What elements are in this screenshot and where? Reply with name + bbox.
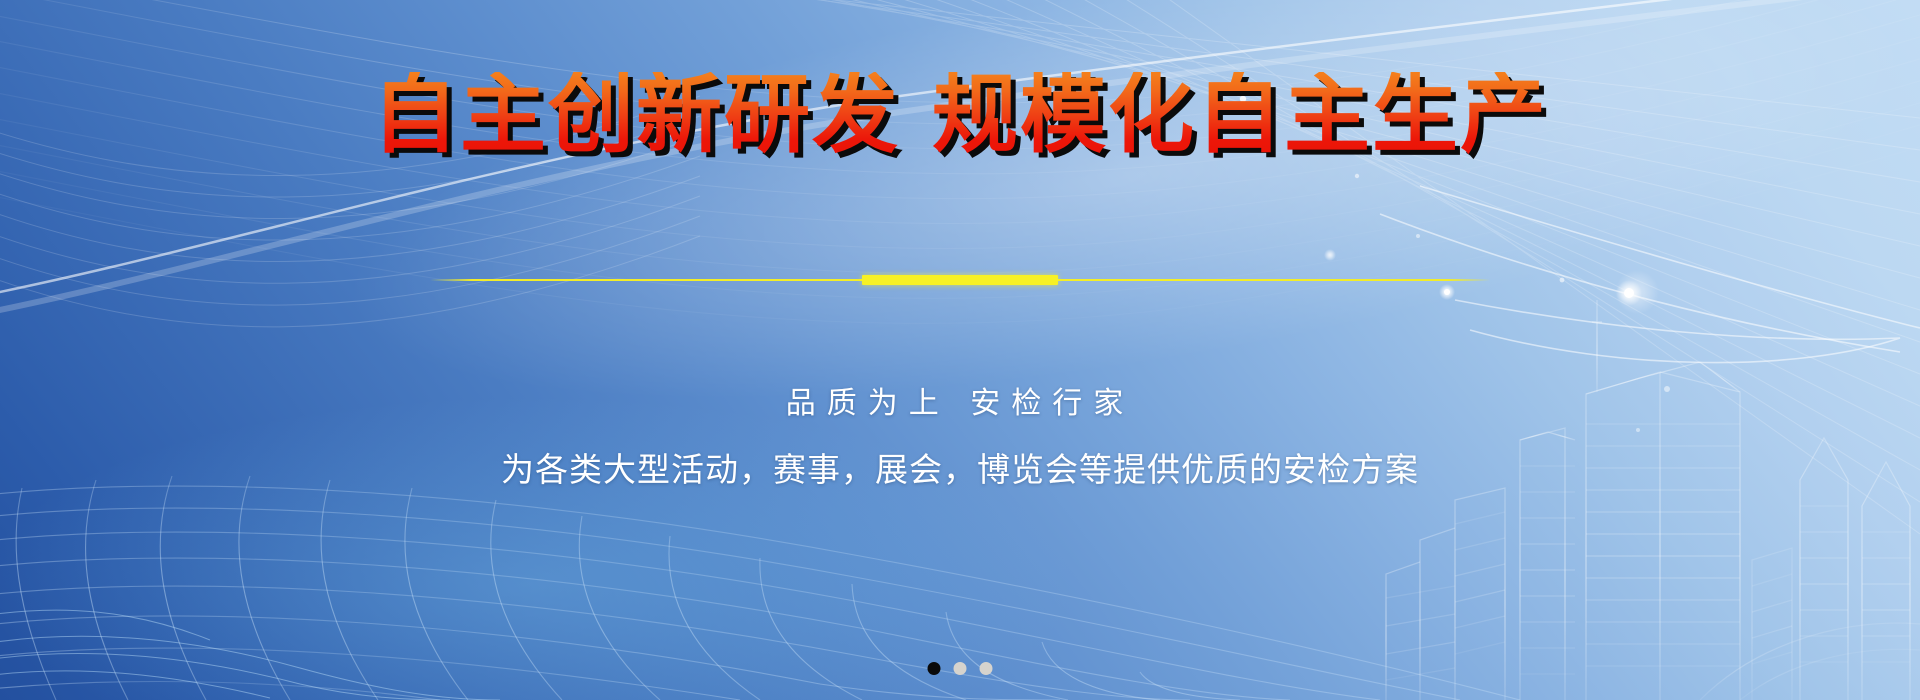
yellow-divider xyxy=(430,271,1490,289)
banner-tagline: 品质为上 安检行家 xyxy=(0,378,1920,422)
carousel-dot-1[interactable] xyxy=(928,662,941,675)
hero-banner: 自主创新研发 规模化自主生产 品质为上 安检行家 为各类大型活动，赛事，展会，博… xyxy=(0,0,1920,700)
banner-headline: 自主创新研发 规模化自主生产 xyxy=(0,72,1920,158)
carousel-dots[interactable] xyxy=(928,662,993,675)
divider-thick-segment xyxy=(862,275,1058,285)
banner-content: 自主创新研发 规模化自主生产 品质为上 安检行家 为各类大型活动，赛事，展会，博… xyxy=(0,0,1920,700)
banner-subline: 为各类大型活动，赛事，展会，博览会等提供优质的安检方案 xyxy=(0,443,1920,491)
carousel-dot-3[interactable] xyxy=(980,662,993,675)
carousel-dot-2[interactable] xyxy=(954,662,967,675)
